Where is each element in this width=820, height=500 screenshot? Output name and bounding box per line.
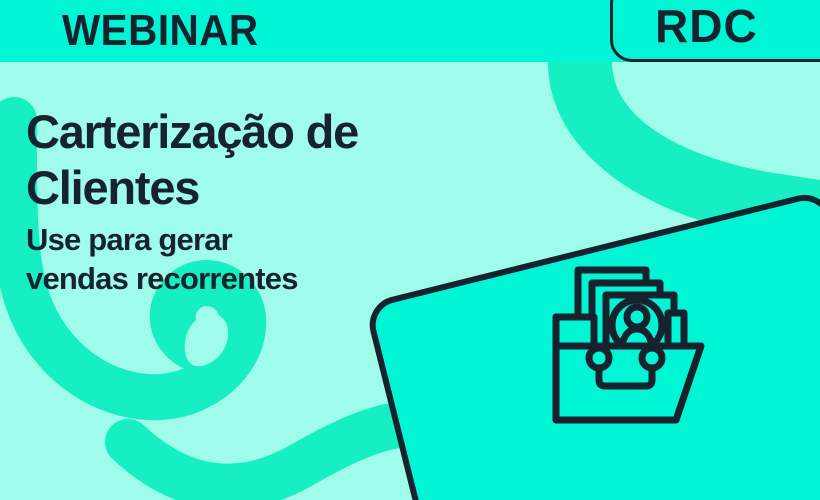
person-head (627, 307, 647, 327)
webinar-eyebrow-label: WEBINAR (62, 3, 259, 59)
page-title: Carterização de Clientes (26, 104, 456, 216)
folder-rivet-right (642, 348, 662, 368)
client-folder-illustration (536, 250, 726, 445)
banner-text-block: Carterização de Clientes Use para gerar … (26, 104, 456, 298)
rdc-badge-label: RDC (655, 0, 758, 54)
page-subtitle: Use para gerar vendas recorrentes (26, 220, 456, 298)
folder-rivet-left (589, 348, 609, 368)
webinar-banner: WEBINAR RDC Carterização de Clientes Use… (0, 0, 820, 500)
client-folder-icon (536, 250, 726, 445)
